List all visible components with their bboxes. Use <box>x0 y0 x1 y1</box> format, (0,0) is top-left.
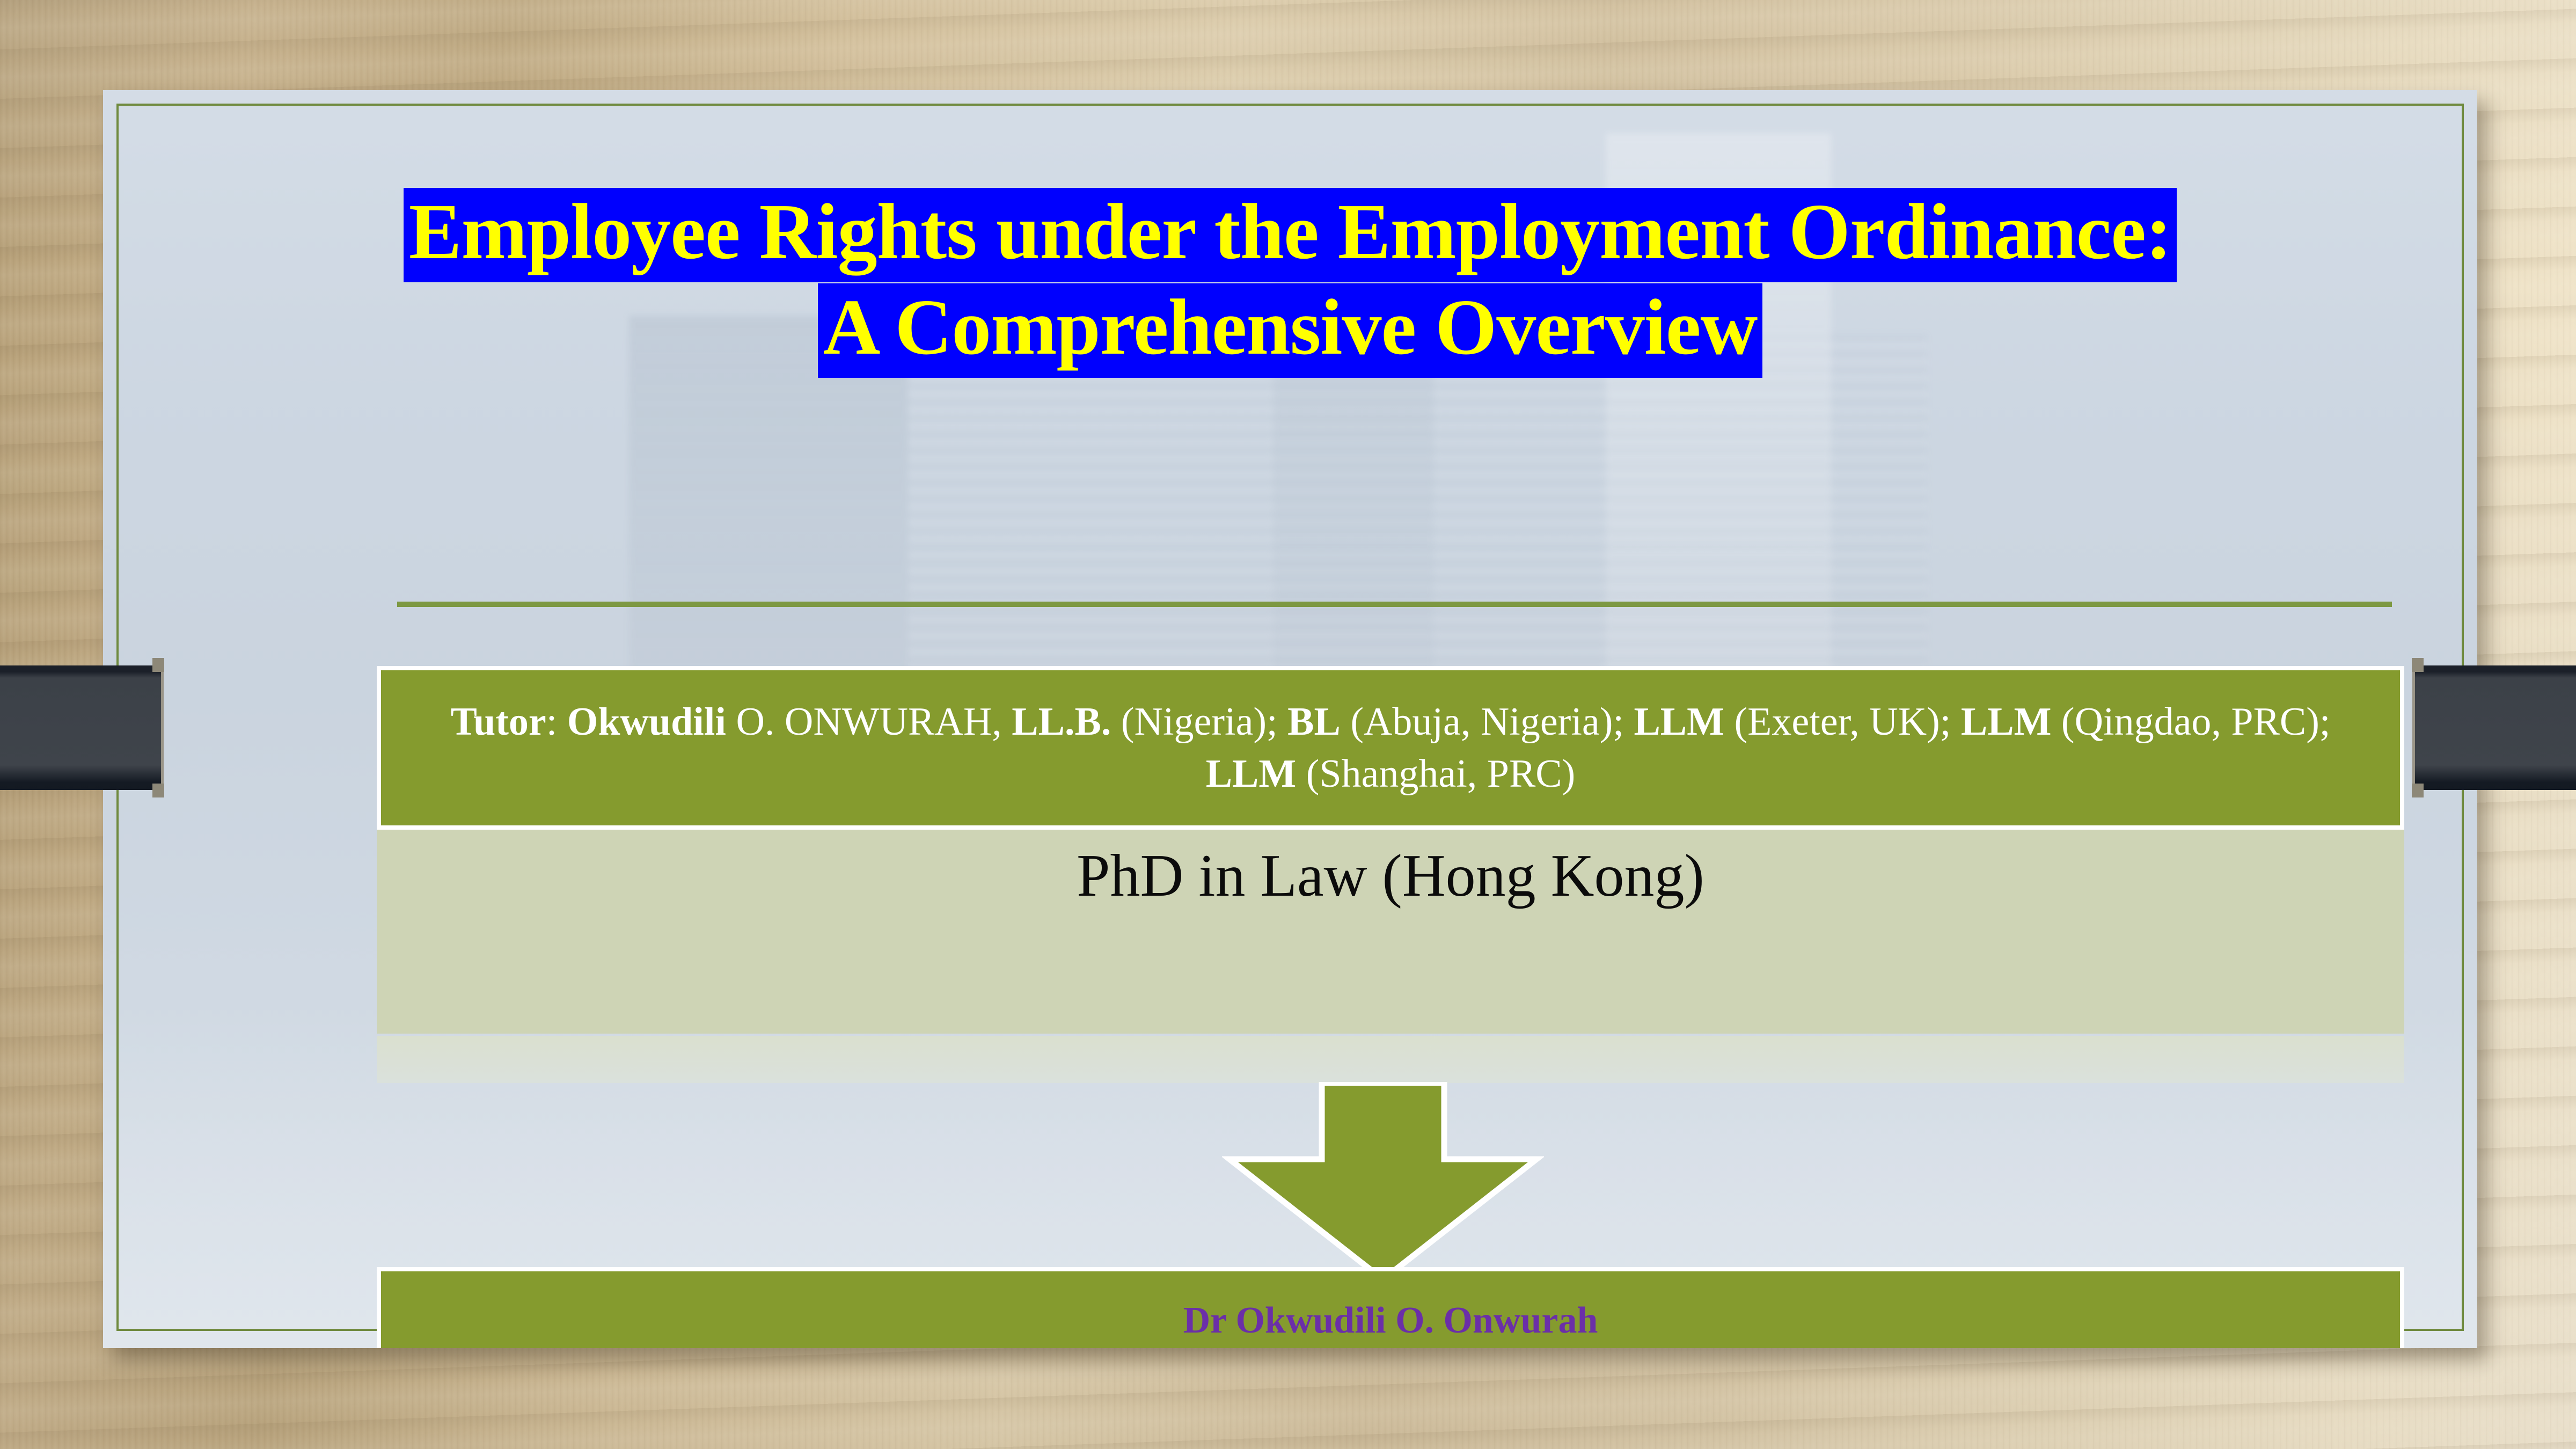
tutor-degree-5-place: (Shanghai, PRC) <box>1296 752 1575 796</box>
title-line-1: Employee Rights under the Employment Ord… <box>103 185 2477 280</box>
tutor-credentials-box: Tutor: Okwudili O. ONWURAH, LL.B. (Niger… <box>377 666 2404 830</box>
tutor-degree-3: LLM <box>1634 700 1724 744</box>
tutor-degree-2-place: (Abuja, Nigeria); <box>1341 700 1634 744</box>
left-monitor-bar <box>0 665 164 790</box>
qualification-text: PhD in Law (Hong Kong) <box>1077 841 1704 911</box>
right-monitor-tab-bottom <box>2412 784 2424 797</box>
presentation-slide: Employee Rights under the Employment Ord… <box>103 90 2477 1348</box>
tutor-degree-2: BL <box>1287 700 1341 744</box>
title-line-2-text: A Comprehensive Overview <box>818 283 1763 378</box>
presenter-name: Dr Okwudili O. Onwurah <box>381 1299 2400 1342</box>
title-divider-rule <box>397 602 2392 607</box>
tutor-name-rest: O. ONWURAH, <box>726 700 1012 744</box>
right-monitor-bar <box>2412 665 2576 790</box>
right-monitor-tab-top <box>2412 658 2424 672</box>
down-arrow-icon <box>1222 1082 1544 1282</box>
qualification-box-reflection <box>377 1036 2404 1083</box>
presenter-name-bar: Dr Okwudili O. Onwurah 11/25/2024 1 <box>377 1267 2404 1348</box>
left-monitor-tab-top <box>152 658 164 672</box>
tutor-first-name: Okwudili <box>567 700 726 744</box>
tutor-degree-1-place: (Nigeria); <box>1111 700 1287 744</box>
tutor-separator: : <box>546 700 567 744</box>
title-line-1-text: Employee Rights under the Employment Ord… <box>404 188 2177 282</box>
tutor-degree-1: LL.B. <box>1012 700 1111 744</box>
tutor-degree-4: LLM <box>1961 700 2052 744</box>
left-monitor-tab-bottom <box>152 784 164 797</box>
qualification-box: PhD in Law (Hong Kong) <box>377 830 2404 1034</box>
tutor-degree-5: LLM <box>1206 752 1297 796</box>
tutor-degree-3-place: (Exeter, UK); <box>1724 700 1961 744</box>
tutor-degree-4-place: (Qingdao, PRC); <box>2051 700 2330 744</box>
tutor-credentials-text: Tutor: Okwudili O. ONWURAH, LL.B. (Niger… <box>389 696 2392 799</box>
slide-title: Employee Rights under the Employment Ord… <box>103 185 2477 375</box>
title-line-2: A Comprehensive Overview <box>103 280 2477 376</box>
tutor-label: Tutor <box>451 700 546 744</box>
